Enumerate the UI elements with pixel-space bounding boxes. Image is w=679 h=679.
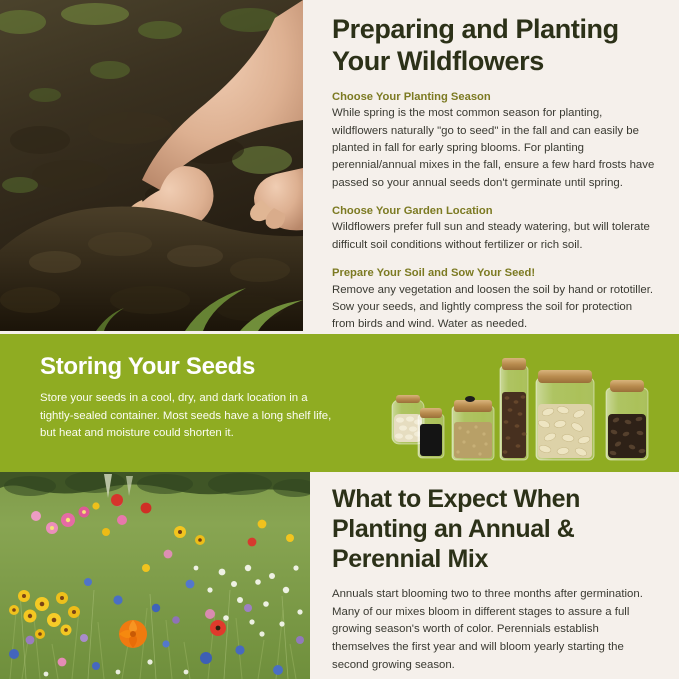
seed-jars-photo (374, 348, 669, 464)
preparing-text-column: Preparing and Planting Your Wildflowers … (303, 0, 679, 334)
kicker-prepare-soil: Prepare Your Soil and Sow Your Seed! (332, 266, 657, 281)
block-prepare-soil: Prepare Your Soil and Sow Your Seed! Rem… (332, 266, 657, 334)
hand-sowing-seeds-photo (0, 0, 303, 331)
what-to-expect-heading: What to Expect When Planting an Annual &… (332, 484, 657, 574)
section-preparing-and-planting: Preparing and Planting Your Wildflowers … (0, 0, 679, 334)
section-what-to-expect: What to Expect When Planting an Annual &… (0, 472, 679, 679)
kicker-garden-location: Choose Your Garden Location (332, 204, 657, 219)
block-garden-location: Choose Your Garden Location Wildflowers … (332, 204, 657, 254)
storing-heading: Storing Your Seeds (40, 354, 340, 380)
wildflower-meadow-photo (0, 472, 310, 679)
infographic-page: Preparing and Planting Your Wildflowers … (0, 0, 679, 679)
body-prepare-soil: Remove any vegetation and loosen the soi… (332, 282, 657, 334)
storing-text-column: Storing Your Seeds Store your seeds in a… (40, 354, 340, 442)
what-to-expect-body: Annuals start blooming two to three mont… (332, 586, 657, 674)
what-to-expect-text-column: What to Expect When Planting an Annual &… (310, 472, 679, 679)
kicker-planting-season: Choose Your Planting Season (332, 90, 657, 105)
page-title: Preparing and Planting Your Wildflowers (332, 14, 657, 78)
section-storing-your-seeds: Storing Your Seeds Store your seeds in a… (0, 334, 679, 472)
body-planting-season: While spring is the most common season f… (332, 105, 657, 192)
body-garden-location: Wildflowers prefer full sun and steady w… (332, 219, 657, 254)
storing-body: Store your seeds in a cool, dry, and dar… (40, 390, 340, 441)
block-planting-season: Choose Your Planting Season While spring… (332, 90, 657, 192)
